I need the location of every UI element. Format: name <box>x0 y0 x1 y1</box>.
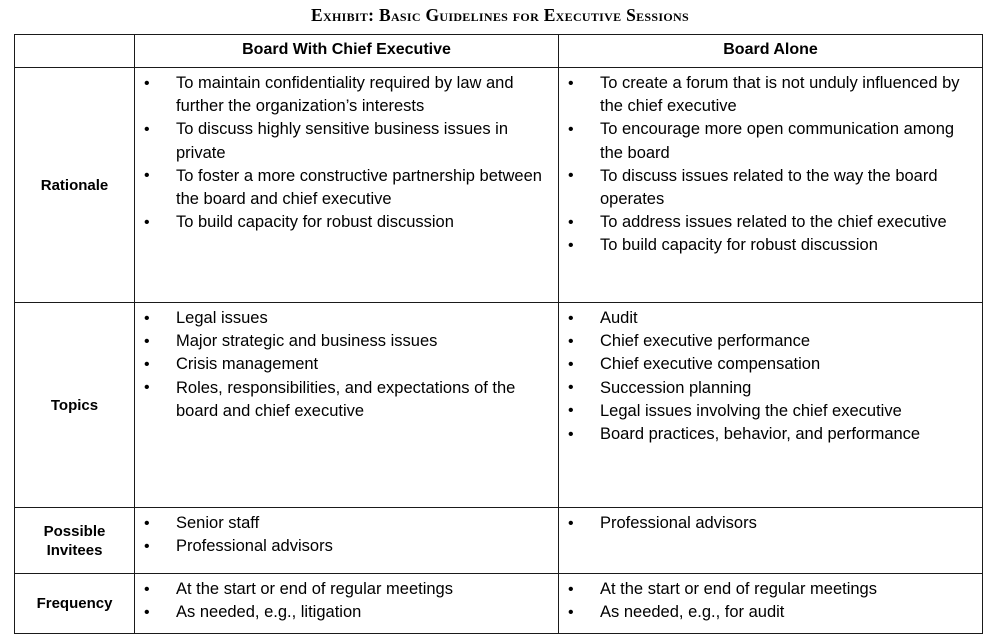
list-item: To build capacity for robust discussion <box>559 234 976 257</box>
row-label-frequency: Frequency <box>15 574 135 634</box>
cell-rationale-board-with-chief-executive: To maintain confidentiality required by … <box>135 68 559 303</box>
list-item: As needed, e.g., litigation <box>135 601 552 624</box>
table-row: Topics Legal issues Major strategic and … <box>15 303 983 508</box>
cell-invitees-board-with-chief-executive: Senior staff Professional advisors <box>135 508 559 574</box>
bullet-list: Audit Chief executive performance Chief … <box>559 307 976 446</box>
table-row: Frequency At the start or end of regular… <box>15 574 983 634</box>
column-header-board-with-chief-executive: Board With Chief Executive <box>135 35 559 68</box>
list-item: Crisis management <box>135 353 552 376</box>
bullet-list: Senior staff Professional advisors <box>135 512 552 558</box>
list-item: Audit <box>559 307 976 330</box>
bullet-list: To maintain confidentiality required by … <box>135 72 552 234</box>
bullet-list: At the start or end of regular meetings … <box>135 578 552 624</box>
row-label-rationale: Rationale <box>15 68 135 303</box>
column-header-board-alone: Board Alone <box>559 35 983 68</box>
list-item: Professional advisors <box>559 512 976 535</box>
cell-invitees-board-alone: Professional advisors <box>559 508 983 574</box>
cell-frequency-board-with-chief-executive: At the start or end of regular meetings … <box>135 574 559 634</box>
list-item: Succession planning <box>559 377 976 400</box>
list-item: Legal issues <box>135 307 552 330</box>
table-corner-cell <box>15 35 135 68</box>
executive-sessions-table: Board With Chief Executive Board Alone R… <box>14 34 983 634</box>
list-item: To discuss issues related to the way the… <box>559 165 976 211</box>
cell-topics-board-with-chief-executive: Legal issues Major strategic and busines… <box>135 303 559 508</box>
bullet-list: Professional advisors <box>559 512 976 535</box>
exhibit-page: Exhibit: Basic Guidelines for Executive … <box>0 0 1000 594</box>
list-item: Legal issues involving the chief executi… <box>559 400 976 423</box>
bullet-list: To create a forum that is not unduly inf… <box>559 72 976 258</box>
list-item: To build capacity for robust discussion <box>135 211 552 234</box>
list-item: Chief executive compensation <box>559 353 976 376</box>
table-row: Rationale To maintain confidentiality re… <box>15 68 983 303</box>
table-header-row: Board With Chief Executive Board Alone <box>15 35 983 68</box>
list-item: At the start or end of regular meetings <box>135 578 552 601</box>
list-item: To discuss highly sensitive business iss… <box>135 118 552 164</box>
list-item: Chief executive performance <box>559 330 976 353</box>
list-item: To address issues related to the chief e… <box>559 211 976 234</box>
cell-topics-board-alone: Audit Chief executive performance Chief … <box>559 303 983 508</box>
list-item: To create a forum that is not unduly inf… <box>559 72 976 118</box>
bullet-list: At the start or end of regular meetings … <box>559 578 976 624</box>
list-item: Major strategic and business issues <box>135 330 552 353</box>
table-row: Possible Invitees Senior staff Professio… <box>15 508 983 574</box>
list-item: Senior staff <box>135 512 552 535</box>
list-item: Roles, responsibilities, and expectation… <box>135 377 552 423</box>
page-title: Exhibit: Basic Guidelines for Executive … <box>0 5 1000 26</box>
row-label-topics: Topics <box>15 303 135 508</box>
cell-frequency-board-alone: At the start or end of regular meetings … <box>559 574 983 634</box>
list-item: Professional advisors <box>135 535 552 558</box>
list-item: To foster a more constructive partnershi… <box>135 165 552 211</box>
list-item: To encourage more open communication amo… <box>559 118 976 164</box>
list-item: To maintain confidentiality required by … <box>135 72 552 118</box>
list-item: Board practices, behavior, and performan… <box>559 423 976 446</box>
bullet-list: Legal issues Major strategic and busines… <box>135 307 552 423</box>
cell-rationale-board-alone: To create a forum that is not unduly inf… <box>559 68 983 303</box>
row-label-possible-invitees: Possible Invitees <box>15 508 135 574</box>
list-item: At the start or end of regular meetings <box>559 578 976 601</box>
list-item: As needed, e.g., for audit <box>559 601 976 624</box>
